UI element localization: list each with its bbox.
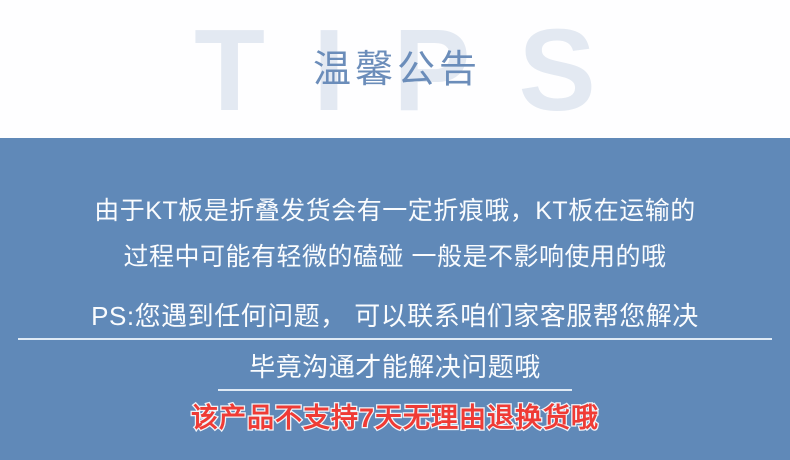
notice-text-line-1: 由于KT板是折叠发货会有一定折痕哦，KT板在运输的 bbox=[0, 194, 790, 228]
notice-text-line-4: 毕竟沟通才能解决问题哦 bbox=[0, 350, 790, 384]
notice-body-panel: 由于KT板是折叠发货会有一定折痕哦，KT板在运输的 过程中可能有轻微的磕碰 一般… bbox=[0, 138, 790, 460]
page-title: 温馨公告 bbox=[0, 44, 790, 96]
notice-text-line-3-ps: PS:您遇到任何问题， 可以联系咱们家客服帮您解决 bbox=[0, 299, 790, 333]
header-banner: TIPS 温馨公告 bbox=[0, 0, 790, 138]
notice-warning-no-return: 该产品不支持7天无理由退换货哦 bbox=[0, 400, 790, 436]
divider-underline-wide bbox=[18, 338, 772, 340]
notice-text-line-2: 过程中可能有轻微的磕碰 一般是不影响使用的哦 bbox=[0, 240, 790, 274]
divider-underline-narrow bbox=[218, 389, 572, 391]
notice-card: TIPS 温馨公告 由于KT板是折叠发货会有一定折痕哦，KT板在运输的 过程中可… bbox=[0, 0, 790, 460]
